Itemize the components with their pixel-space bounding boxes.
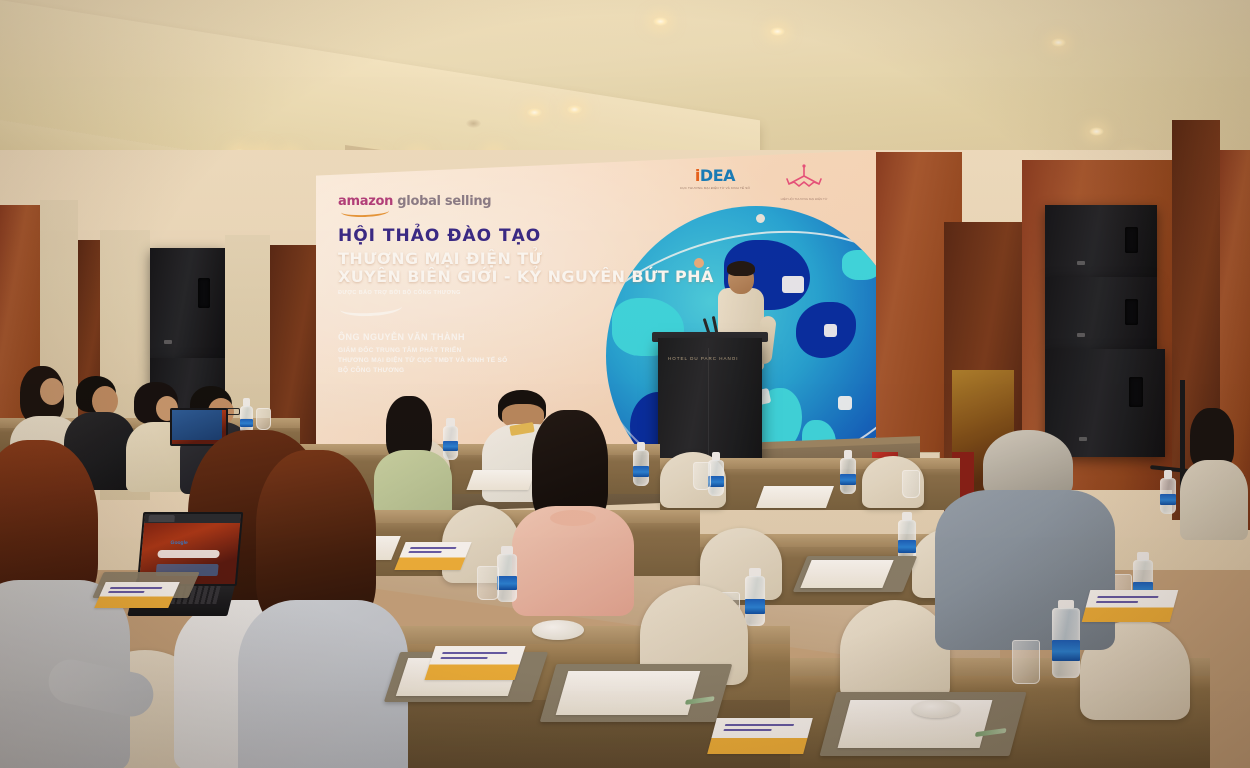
- pa-speaker-stack-right-mid: [1045, 277, 1157, 349]
- collar: [550, 510, 596, 526]
- slide-speaker-name: ÔNG NGUYỄN VĂN THÀNH: [338, 332, 465, 342]
- speaker-badge-icon: [1079, 437, 1087, 441]
- downlight-icon: [1051, 38, 1066, 47]
- laptop-browser-tab: [148, 515, 175, 522]
- program-flyer: [707, 718, 813, 754]
- bottle-label: [898, 540, 916, 553]
- downlight-icon: [653, 17, 668, 26]
- podium: HOTEL DU PARC HANOI: [658, 338, 762, 466]
- speaker-port-icon: [1125, 227, 1138, 253]
- glasses-icon: [226, 408, 240, 415]
- head: [40, 378, 64, 405]
- drinking-glass: [1012, 640, 1040, 684]
- bottle-body: [443, 426, 458, 460]
- laptop-screen-blue-back: [172, 410, 222, 440]
- saucer-dish: [532, 620, 584, 640]
- slide-icon-card: [782, 276, 804, 293]
- flyer-line: [109, 591, 145, 593]
- slide-title-line1: THƯƠNG MẠI ĐIỆN TỬ: [338, 250, 714, 268]
- flyer-line: [723, 729, 771, 731]
- slide-icon-card: [838, 396, 852, 410]
- google-search-bar[interactable]: [157, 550, 220, 558]
- bottle-label: [240, 419, 253, 427]
- pa-speaker-stack-right-bottom: [1045, 349, 1165, 457]
- water-bottle: [840, 450, 856, 494]
- water-bottle: [1160, 470, 1176, 514]
- google-logo: Google: [170, 540, 188, 546]
- bottle-label: [1160, 494, 1176, 505]
- drinking-glass: [902, 470, 920, 498]
- slide-title: THƯƠNG MẠI ĐIỆN TỬ XUYÊN BIÊN GIỚI - KỶ …: [338, 250, 714, 286]
- slide-icon-dot: [756, 214, 765, 223]
- bottle-label: [745, 599, 765, 614]
- flyer-line: [1097, 596, 1159, 598]
- program-flyer: [94, 582, 180, 608]
- bottle-body: [633, 450, 649, 486]
- flyer-line: [1096, 601, 1139, 603]
- speaker-port-icon: [1125, 299, 1138, 325]
- drinking-glass: [693, 462, 711, 490]
- slide-heading: HỘI THẢO ĐÀO TẠO: [338, 226, 541, 246]
- bottle-body: [1160, 478, 1176, 514]
- pa-speaker-stack-left: [150, 248, 225, 358]
- flyer-line: [410, 547, 457, 549]
- bottle-body: [497, 554, 517, 602]
- downlight-icon: [1089, 127, 1104, 136]
- notepad-paper: [556, 671, 701, 715]
- speaker-hair: [727, 261, 755, 276]
- conference-room-photo: amazon global selling HỘI THẢO ĐÀO TẠO T…: [0, 0, 1250, 768]
- speaker-port-icon: [1129, 377, 1143, 407]
- downlight-icon: [466, 119, 481, 128]
- water-bottle: [240, 398, 253, 434]
- bottle-label: [633, 466, 649, 477]
- bottle-label: [497, 576, 517, 590]
- speaker-badge-icon: [1077, 261, 1085, 265]
- downlight-icon: [567, 105, 582, 114]
- program-flyer: [394, 542, 471, 570]
- vecom-logo: HIỆP HỘI THƯƠNG MẠI ĐIỆN TỬ: [774, 164, 834, 201]
- speaker-badge-icon: [164, 340, 172, 344]
- bottle-label: [840, 474, 856, 485]
- bottle-label: [1052, 640, 1080, 661]
- paper-sheet: [756, 486, 834, 508]
- podium-nameplate: HOTEL DU PARC HANOI: [668, 356, 739, 361]
- drinking-glass: [477, 566, 499, 600]
- bottle-label: [443, 441, 458, 451]
- global-selling-text: global selling: [397, 194, 491, 209]
- bottle-body: [1052, 608, 1080, 678]
- pa-speaker-stack-right-top: [1045, 205, 1157, 277]
- paper-sheet: [466, 470, 535, 490]
- speaker-role-line1: GIÁM ĐỐC TRUNG TÂM PHÁT TRIỂN: [338, 346, 507, 356]
- downlight-icon: [527, 108, 542, 117]
- vecom-mark-icon: [781, 164, 827, 190]
- speaker-badge-icon: [1077, 333, 1085, 337]
- water-bottle: [1052, 600, 1080, 678]
- bottle-body: [745, 576, 765, 626]
- podium-seam: [708, 348, 709, 466]
- idea-logo-subtitle: CỤC THƯƠNG MẠI ĐIỆN TỬ VÀ KINH TẾ SỐ: [680, 186, 750, 190]
- speaker-role-line3: BỘ CÔNG THƯƠNG: [338, 366, 507, 376]
- saucer-dish: [912, 700, 960, 718]
- flyer-line: [408, 551, 442, 553]
- speaker-role-line2: THƯƠNG MẠI ĐIỆN TỬ CỤC TMĐT VÀ KINH TẾ S…: [338, 356, 507, 366]
- vecom-logo-subtitle: HIỆP HỘI THƯƠNG MẠI ĐIỆN TỬ: [774, 197, 834, 201]
- slide-title-line2: XUYÊN BIÊN GIỚI - KỶ NGUYÊN BỨT PHÁ: [338, 268, 714, 286]
- notepad-folder: [793, 556, 918, 592]
- idea-logo-dea: DEA: [700, 166, 735, 185]
- slide-subtitle: ĐƯỢC BẢO TRỢ BỞI BỘ CÔNG THƯƠNG: [338, 290, 461, 296]
- slide-speaker-role: GIÁM ĐỐC TRUNG TÂM PHÁT TRIỂN THƯƠNG MẠI…: [338, 346, 507, 376]
- flyer-line: [442, 652, 507, 654]
- torso: [238, 600, 408, 768]
- downlight-icon: [770, 27, 785, 36]
- torso: [1180, 460, 1248, 540]
- amazon-global-selling-logo: amazon global selling: [338, 194, 491, 209]
- idea-wordmark: iDEA: [680, 166, 750, 185]
- program-flyer: [1082, 590, 1179, 622]
- flyer-line: [440, 657, 487, 659]
- slide-icon-dot: [660, 222, 671, 233]
- program-flyer: [424, 646, 525, 680]
- bottle-body: [840, 458, 856, 494]
- water-bottle: [497, 546, 517, 602]
- water-bottle: [443, 418, 458, 460]
- idea-logo: iDEA CỤC THƯƠNG MẠI ĐIỆN TỬ VÀ KINH TẾ S…: [680, 166, 750, 190]
- drinking-glass: [256, 408, 271, 430]
- notepad-paper: [800, 560, 893, 588]
- flyer-line: [724, 724, 794, 726]
- torso: [935, 490, 1115, 650]
- speaker-port-icon: [198, 278, 210, 308]
- flyer-line: [110, 587, 162, 589]
- slide-icon-dot: [612, 286, 620, 294]
- chair: [840, 600, 950, 702]
- water-bottle: [633, 442, 649, 486]
- slide-icon-card: [824, 324, 837, 337]
- notepad-folder: [540, 664, 733, 722]
- water-bottle: [745, 568, 765, 626]
